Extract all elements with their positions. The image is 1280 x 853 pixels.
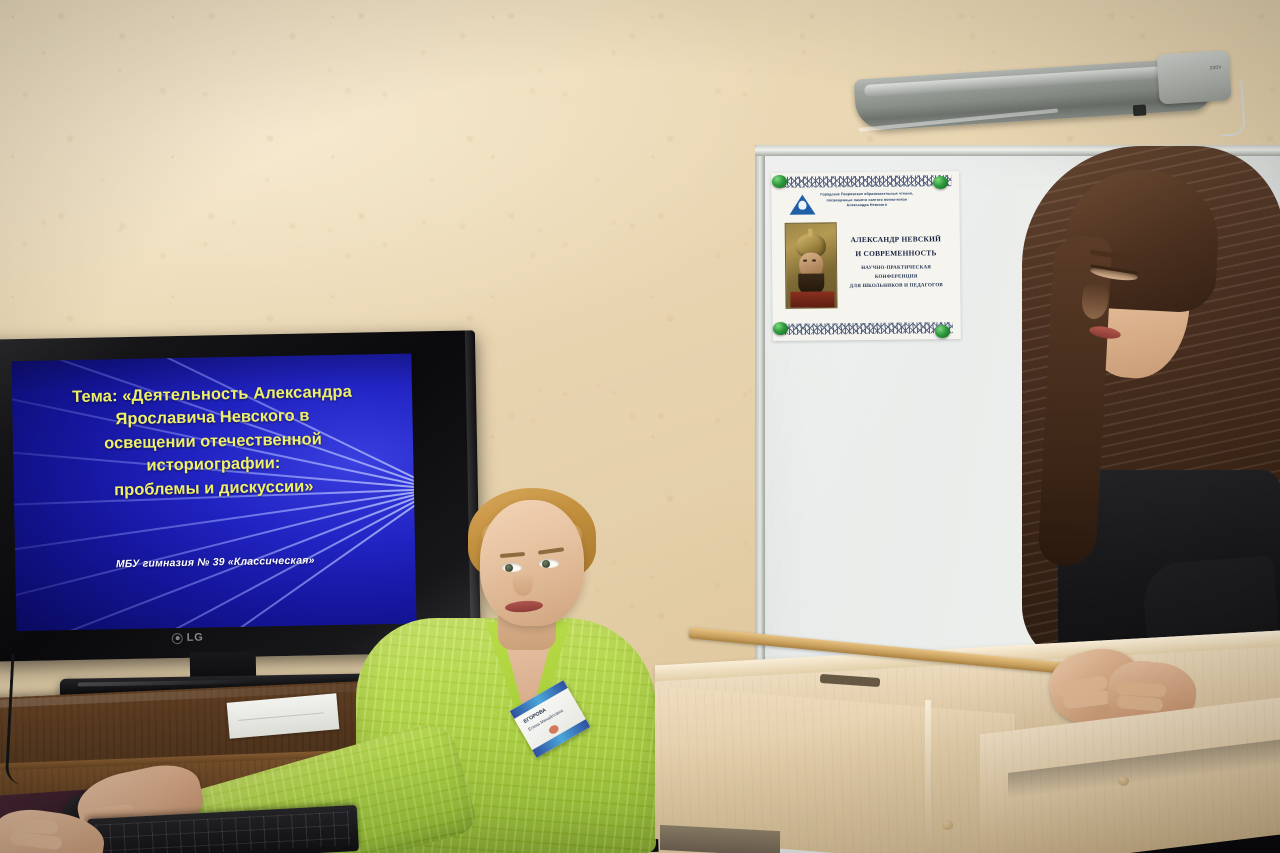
poster-subtitle-line-3: ДЛЯ ШКОЛЬНИКОВ И ПЕДАГОГОВ (844, 282, 948, 292)
poster-header-text: Городские Покровские образовательные чте… (820, 192, 913, 210)
keyboard-keys (95, 811, 350, 853)
seated-woman-eye-right (539, 559, 559, 568)
presentation-screen: Тема: «Деятельность Александра Ярославич… (11, 354, 416, 632)
nevsky-portrait-icon (785, 222, 838, 309)
slide-title: Тема: «Деятельность Александра Ярославич… (12, 380, 414, 505)
seated-woman-eye-left (502, 563, 522, 572)
lamp-label: 220V (1210, 65, 1222, 71)
magnet-icon (935, 325, 950, 338)
conference-poster: Городские Покровские образовательные чте… (771, 171, 961, 341)
poster-body: АЛЕКСАНДР НЕВСКИЙ И СОВРЕМЕННОСТЬ НАУЧНО… (785, 221, 949, 309)
poster-title-line-1: АЛЕКСАНДР НЕВСКИЙ (844, 232, 948, 247)
poster-text-block: АЛЕКСАНДР НЕВСКИЙ И СОВРЕМЕННОСТЬ НАУЧНО… (844, 221, 949, 308)
magnet-icon (772, 175, 787, 188)
lectern-divider (925, 700, 931, 853)
magnet-icon (933, 176, 948, 189)
poster-header-line-3: Александра Невского (820, 203, 913, 210)
lectern-dowel-icon (1118, 776, 1129, 786)
lamp-switch[interactable] (1133, 104, 1147, 116)
magnet-icon (773, 322, 788, 335)
lg-television: Тема: «Деятельность Александра Ярославич… (0, 330, 481, 661)
poster-subtitle: НАУЧНО-ПРАКТИЧЕСКАЯ КОНФЕРЕНЦИЯ ДЛЯ ШКОЛ… (844, 265, 948, 292)
poster-ornament-top (779, 175, 951, 188)
power-cable (5, 654, 52, 786)
lectern-dowel-icon (942, 820, 953, 830)
photo-scene: Городские Покровские образовательные чте… (0, 0, 1280, 853)
conference-logo-icon (789, 193, 815, 217)
poster-title-line-2: И СОВРЕМЕННОСТЬ (844, 246, 948, 261)
tv-brand-label: LG (187, 632, 204, 644)
poster-ornament-bottom (781, 322, 953, 335)
lg-logo-icon: LG (172, 629, 232, 646)
seated-woman-nose (513, 572, 533, 596)
slide-subtitle: МБУ гимназия № 39 «Классическая» (15, 552, 415, 572)
poster-header: Городские Покровские образовательные чте… (789, 191, 947, 217)
poster-title: АЛЕКСАНДР НЕВСКИЙ И СОВРЕМЕННОСТЬ (844, 232, 948, 260)
lamp-cord (1216, 79, 1245, 137)
